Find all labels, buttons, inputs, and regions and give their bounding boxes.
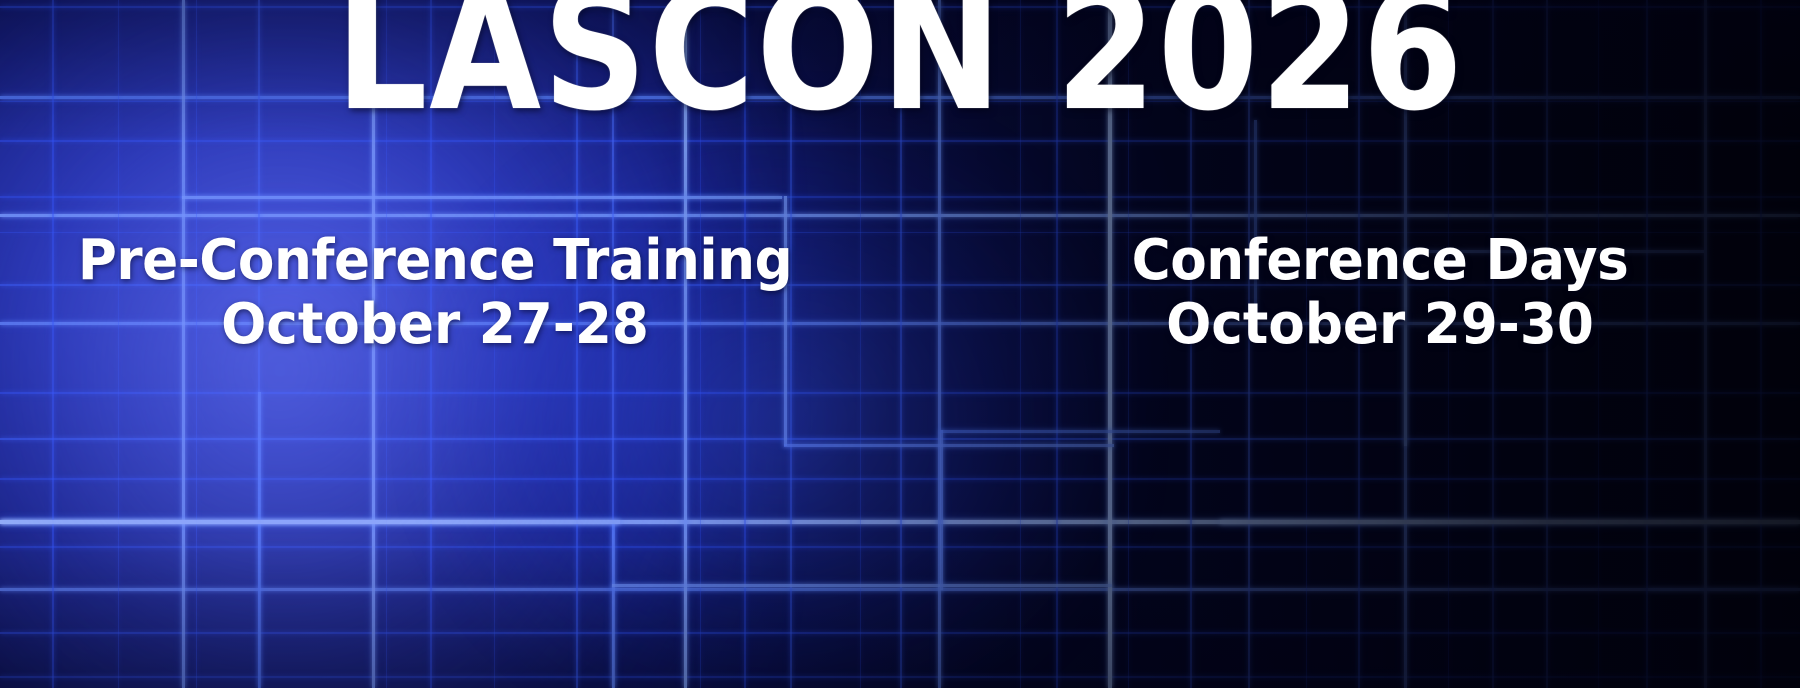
page-title: LASCON 2026 xyxy=(126,0,1674,134)
conference-banner: LASCON 2026 Pre-Conference Training Octo… xyxy=(0,0,1800,688)
conference-days-heading: Conference Days xyxy=(1048,232,1713,291)
schedule-columns: Pre-Conference Training October 27-28 Co… xyxy=(0,232,1800,358)
pre-conference-training-heading: Pre-Conference Training xyxy=(22,232,849,291)
schedule-column-conference-days: Conference Days October 29-30 xyxy=(1030,232,1730,358)
pre-conference-training-dates: October 27-28 xyxy=(22,291,849,358)
schedule-column-pre-conference: Pre-Conference Training October 27-28 xyxy=(0,232,870,358)
conference-days-dates: October 29-30 xyxy=(1048,291,1713,358)
